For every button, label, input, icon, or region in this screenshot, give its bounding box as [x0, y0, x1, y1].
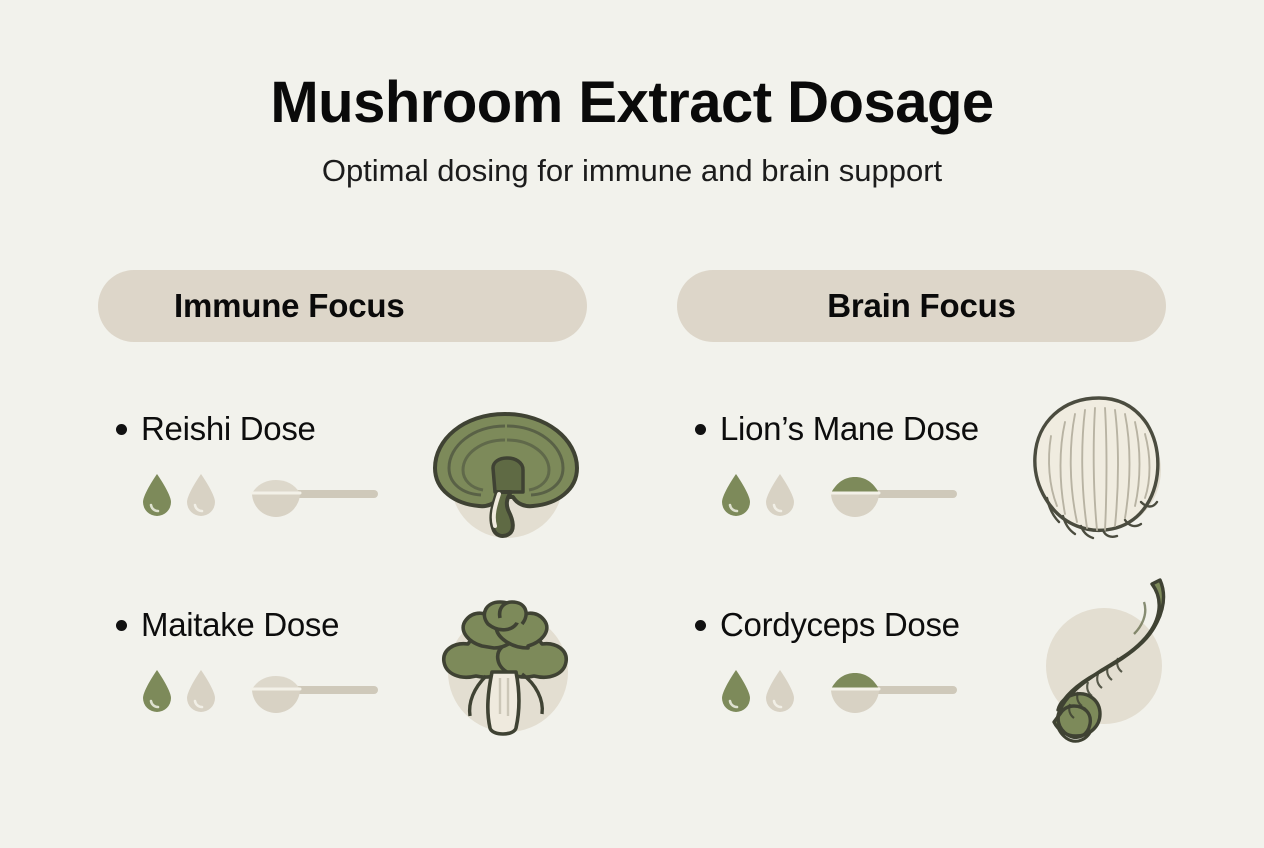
item-header: Cordyceps Dose	[677, 600, 1166, 650]
list-item-label: Lion’s Mane Dose	[720, 410, 979, 448]
list-item-lions-mane: Lion’s Mane Dose	[677, 404, 1166, 554]
item-header: Maitake Dose	[98, 600, 587, 650]
item-header: Reishi Dose	[98, 404, 587, 454]
dose-indicator-cordyceps	[677, 668, 1166, 714]
column-brain-focus: Brain Focus Lion’s Mane Dose	[677, 270, 1166, 750]
section-header-label: Brain Focus	[827, 287, 1016, 325]
columns-container: Immune Focus Reishi Dose	[98, 270, 1166, 750]
spoon-icon	[821, 473, 959, 517]
bullet-icon	[116, 424, 127, 435]
spoon-icon	[821, 669, 959, 713]
dose-indicator-maitake	[98, 668, 587, 714]
list-item-label: Cordyceps Dose	[720, 606, 960, 644]
bullet-icon	[695, 424, 706, 435]
bullet-icon	[116, 620, 127, 631]
droplet-empty-icon	[184, 668, 218, 714]
column-immune-focus: Immune Focus Reishi Dose	[98, 270, 587, 750]
item-header: Lion’s Mane Dose	[677, 404, 1166, 454]
droplet-filled-icon	[140, 472, 174, 518]
droplet-filled-icon	[140, 668, 174, 714]
droplet-empty-icon	[763, 668, 797, 714]
dose-indicator-reishi	[98, 472, 587, 518]
header: Mushroom Extract Dosage Optimal dosing f…	[0, 72, 1264, 188]
page-title: Mushroom Extract Dosage	[0, 72, 1264, 135]
bullet-icon	[695, 620, 706, 631]
spoon-icon	[242, 473, 380, 517]
list-item-label: Maitake Dose	[141, 606, 339, 644]
list-item-reishi: Reishi Dose	[98, 404, 587, 554]
droplet-empty-icon	[184, 472, 218, 518]
page-subtitle: Optimal dosing for immune and brain supp…	[0, 153, 1264, 189]
section-header-brain-focus: Brain Focus	[677, 270, 1166, 342]
droplet-filled-icon	[719, 668, 753, 714]
section-header-immune-focus: Immune Focus	[98, 270, 587, 342]
infographic-canvas: Mushroom Extract Dosage Optimal dosing f…	[0, 0, 1264, 848]
list-item-cordyceps: Cordyceps Dose	[677, 600, 1166, 750]
droplet-empty-icon	[763, 472, 797, 518]
list-item-maitake: Maitake Dose	[98, 600, 587, 750]
droplet-filled-icon	[719, 472, 753, 518]
spoon-icon	[242, 669, 380, 713]
list-item-label: Reishi Dose	[141, 410, 316, 448]
section-header-label: Immune Focus	[174, 287, 404, 325]
dose-indicator-lions-mane	[677, 472, 1166, 518]
